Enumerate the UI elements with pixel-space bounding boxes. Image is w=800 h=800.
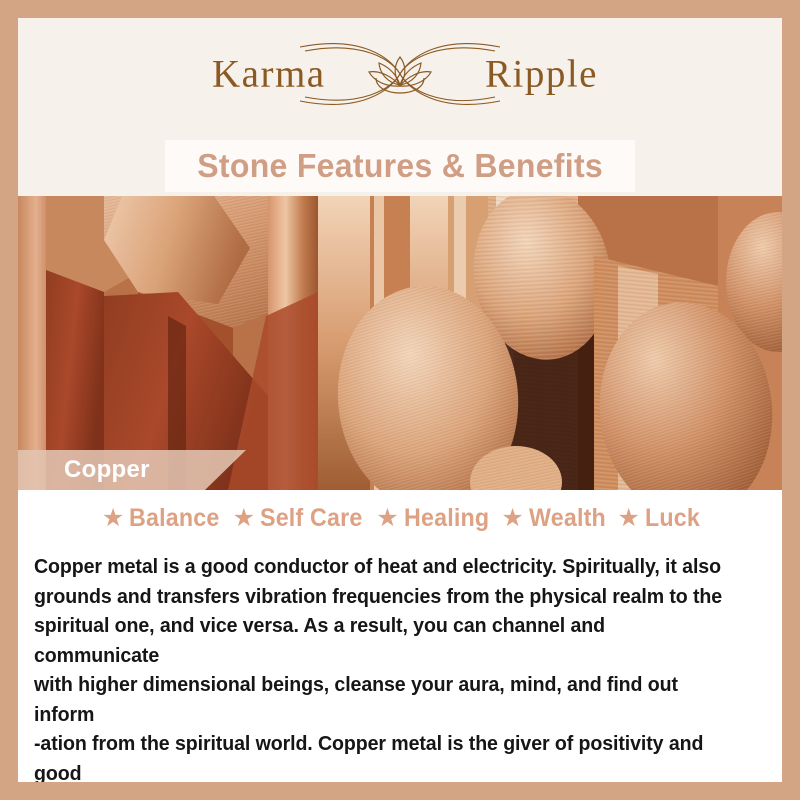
benefit-label: Self Care xyxy=(260,504,362,533)
benefit-item: ★ Luck xyxy=(612,504,705,533)
description-paragraph: Copper metal is a good conductor of heat… xyxy=(34,552,768,782)
star-icon: ★ xyxy=(233,506,255,531)
star-icon: ★ xyxy=(102,506,124,531)
benefit-label: Balance xyxy=(129,504,219,533)
section-title-band: Stone Features & Benefits xyxy=(165,140,635,192)
benefit-label: Wealth xyxy=(529,504,606,533)
description-line: -ation from the spiritual world. Copper … xyxy=(34,729,735,782)
content-card: Karma Ripple xyxy=(18,18,782,782)
star-icon: ★ xyxy=(376,506,398,531)
brand-name-left: Karma xyxy=(212,52,326,97)
description-line: Copper metal is a good conductor of heat… xyxy=(34,552,735,582)
content-panel: ★ Balance ★ Self Care ★ Healing ★ Wealth… xyxy=(18,490,782,782)
description-line: with higher dimensional beings, cleanse … xyxy=(34,670,735,729)
brand-logo-wrap: Karma Ripple xyxy=(190,29,610,119)
benefit-label: Luck xyxy=(645,504,700,533)
page-title: Stone Features & Benefits xyxy=(197,147,603,185)
copper-bars-illustration xyxy=(18,196,782,490)
benefit-item: ★ Balance xyxy=(96,504,227,533)
benefit-item: ★ Healing xyxy=(370,504,495,533)
benefit-label: Healing xyxy=(404,504,489,533)
page-frame: Karma Ripple xyxy=(0,0,800,800)
hero-caption-label: Copper xyxy=(64,456,150,484)
hero-image xyxy=(18,196,782,490)
brand-name-right: Ripple xyxy=(485,52,598,97)
star-icon: ★ xyxy=(618,506,640,531)
star-icon: ★ xyxy=(501,506,523,531)
description-line: grounds and transfers vibration frequenc… xyxy=(34,582,735,612)
description-line: spiritual one, and vice versa. As a resu… xyxy=(34,611,735,670)
benefit-item: ★ Self Care xyxy=(227,504,371,533)
brand-logo: Karma Ripple xyxy=(18,18,782,130)
benefit-item: ★ Wealth xyxy=(495,504,611,533)
benefits-list: ★ Balance ★ Self Care ★ Healing ★ Wealth… xyxy=(18,504,782,533)
